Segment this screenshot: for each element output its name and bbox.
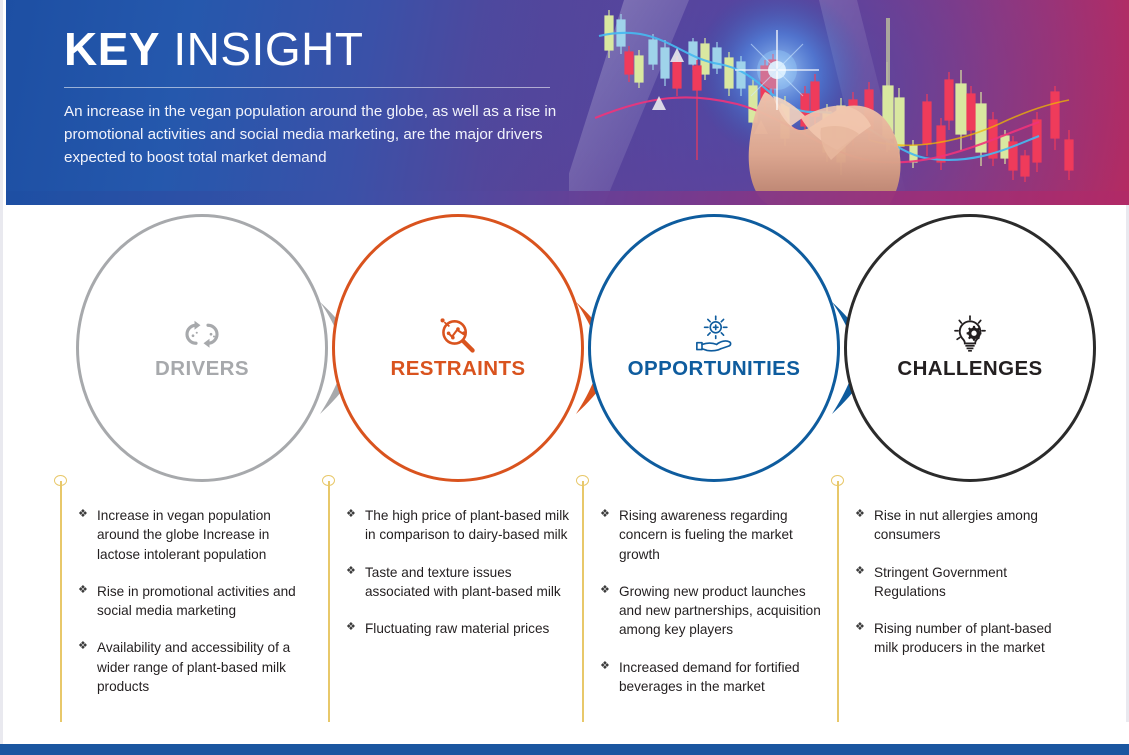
column-divider-challenges [831, 474, 845, 736]
stage-circles-row: DRIVERS [6, 205, 1129, 495]
list-item: ❖ Rise in nut allergies among consumers [855, 506, 1079, 545]
divider-stem [582, 481, 584, 729]
bullet-text: Increase in vegan population around the … [97, 506, 302, 564]
bullet-marker-icon: ❖ [600, 582, 611, 640]
header-text-block: KEY INSIGHT An increase in the vegan pop… [64, 26, 604, 169]
bullet-text: Fluctuating raw material prices [365, 619, 570, 638]
bullet-text: Rise in nut allergies among consumers [874, 506, 1079, 545]
bullet-marker-icon: ❖ [346, 506, 357, 545]
stage-label-restraints: RESTRAINTS [391, 357, 526, 381]
bullet-marker-icon: ❖ [600, 506, 611, 564]
bullet-marker-icon: ❖ [346, 563, 357, 602]
header-banner: KEY INSIGHT An increase in the vegan pop… [6, 0, 1129, 205]
list-item: ❖ Fluctuating raw material prices [346, 619, 570, 638]
bullet-text: Increased demand for fortified beverages… [619, 658, 824, 697]
list-item: ❖ Rising number of plant-based milk prod… [855, 619, 1079, 658]
divider-stem [328, 481, 330, 729]
column-divider-restraints [322, 474, 336, 736]
page-title-light: INSIGHT [160, 23, 363, 75]
footer-bar [0, 744, 1129, 755]
header-bottom-strip [6, 191, 1129, 205]
page-title-bold: KEY [64, 23, 160, 75]
bullet-text: Stringent Government Regulations [874, 563, 1079, 602]
stage-label-drivers: DRIVERS [155, 357, 249, 381]
bullet-list-opportunities: ❖ Rising awareness regarding concern is … [600, 506, 824, 714]
bullet-marker-icon: ❖ [78, 638, 89, 696]
list-item: ❖ Rising awareness regarding concern is … [600, 506, 824, 564]
bullet-text: Taste and texture issues associated with… [365, 563, 570, 602]
title-divider-rule [64, 87, 550, 88]
magnifier-chart-icon [434, 315, 482, 355]
hand-holding-idea-icon [690, 315, 738, 355]
bullet-text: Rising number of plant-based milk produc… [874, 619, 1079, 658]
list-item: ❖ Rise in promotional activities and soc… [78, 582, 302, 621]
bullet-text: Growing new product launches and new par… [619, 582, 824, 640]
list-item: ❖ Increase in vegan population around th… [78, 506, 302, 564]
bullet-text: Rising awareness regarding concern is fu… [619, 506, 824, 564]
footer-whitespace [6, 722, 1129, 744]
bullet-marker-icon: ❖ [600, 658, 611, 697]
bullet-list-drivers: ❖ Increase in vegan population around th… [78, 506, 302, 714]
recycle-arrows-icon [178, 315, 226, 355]
header-subtitle: An increase in the vegan population arou… [64, 100, 604, 169]
candlestick-chart-artwork [569, 0, 1129, 205]
lightbulb-gear-icon [946, 315, 994, 355]
page-title: KEY INSIGHT [64, 26, 604, 73]
divider-stem [60, 481, 62, 729]
bullet-marker-icon: ❖ [855, 563, 866, 602]
list-item: ❖ Increased demand for fortified beverag… [600, 658, 824, 697]
bullet-list-challenges: ❖ Rise in nut allergies among consumers … [855, 506, 1079, 676]
bullet-text: Rise in promotional activities and socia… [97, 582, 302, 621]
divider-stem [837, 481, 839, 729]
bullet-list-restraints: ❖ The high price of plant-based milk in … [346, 506, 570, 656]
list-item: ❖ Availability and accessibility of a wi… [78, 638, 302, 696]
bullet-marker-icon: ❖ [346, 619, 357, 638]
bullet-columns: ❖ Increase in vegan population around th… [6, 474, 1129, 736]
bullet-text: The high price of plant-based milk in co… [365, 506, 570, 545]
bullet-text: Availability and accessibility of a wide… [97, 638, 302, 696]
stage-label-opportunities: OPPORTUNITIES [628, 357, 801, 381]
list-item: ❖ The high price of plant-based milk in … [346, 506, 570, 545]
list-item: ❖ Growing new product launches and new p… [600, 582, 824, 640]
stage-label-challenges: CHALLENGES [897, 357, 1042, 381]
list-item: ❖ Taste and texture issues associated wi… [346, 563, 570, 602]
column-divider-drivers [54, 474, 68, 736]
bullet-marker-icon: ❖ [855, 506, 866, 545]
infographic-page: KEY INSIGHT An increase in the vegan pop… [0, 0, 1129, 755]
bullet-marker-icon: ❖ [78, 582, 89, 621]
bullet-marker-icon: ❖ [855, 619, 866, 658]
bullet-marker-icon: ❖ [78, 506, 89, 564]
column-divider-opportunities [576, 474, 590, 736]
list-item: ❖ Stringent Government Regulations [855, 563, 1079, 602]
